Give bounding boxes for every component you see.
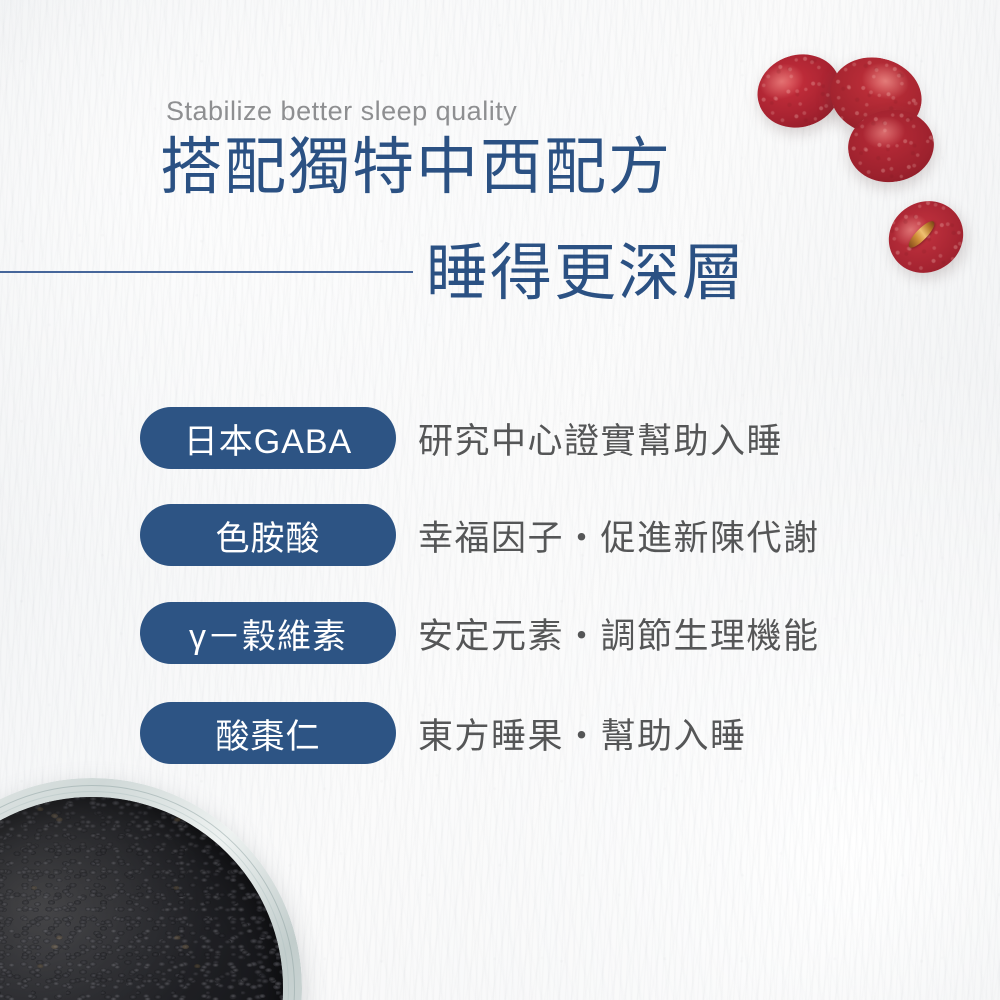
- ingredient-badge: 日本GABA: [140, 407, 396, 469]
- ingredient-badge: 酸棗仁: [140, 702, 396, 764]
- ingredient-description: 研究中心證實幫助入睡: [418, 413, 783, 464]
- feature-row: 日本GABA 研究中心證實幫助入睡: [140, 407, 970, 469]
- sesame-seed-fill: [0, 797, 283, 1000]
- sleep-supplement-poster: Stabilize better sleep quality 搭配獨特中西配方 …: [0, 0, 1000, 1000]
- ingredient-description: 東方睡果・幫助入睡: [418, 708, 747, 759]
- feature-row: 酸棗仁 東方睡果・幫助入睡: [140, 702, 970, 764]
- ingredient-badge: 色胺酸: [140, 504, 396, 566]
- black-sesame-bowl-icon: [0, 778, 302, 1000]
- ingredient-description: 安定元素・調節生理機能: [418, 608, 820, 659]
- ingredient-description: 幸福因子・促進新陳代謝: [418, 510, 820, 561]
- feature-row: γ－穀維素 安定元素・調節生理機能: [140, 602, 970, 664]
- feature-row: 色胺酸 幸福因子・促進新陳代謝: [140, 504, 970, 566]
- ingredient-badge: γ－穀維素: [140, 602, 396, 664]
